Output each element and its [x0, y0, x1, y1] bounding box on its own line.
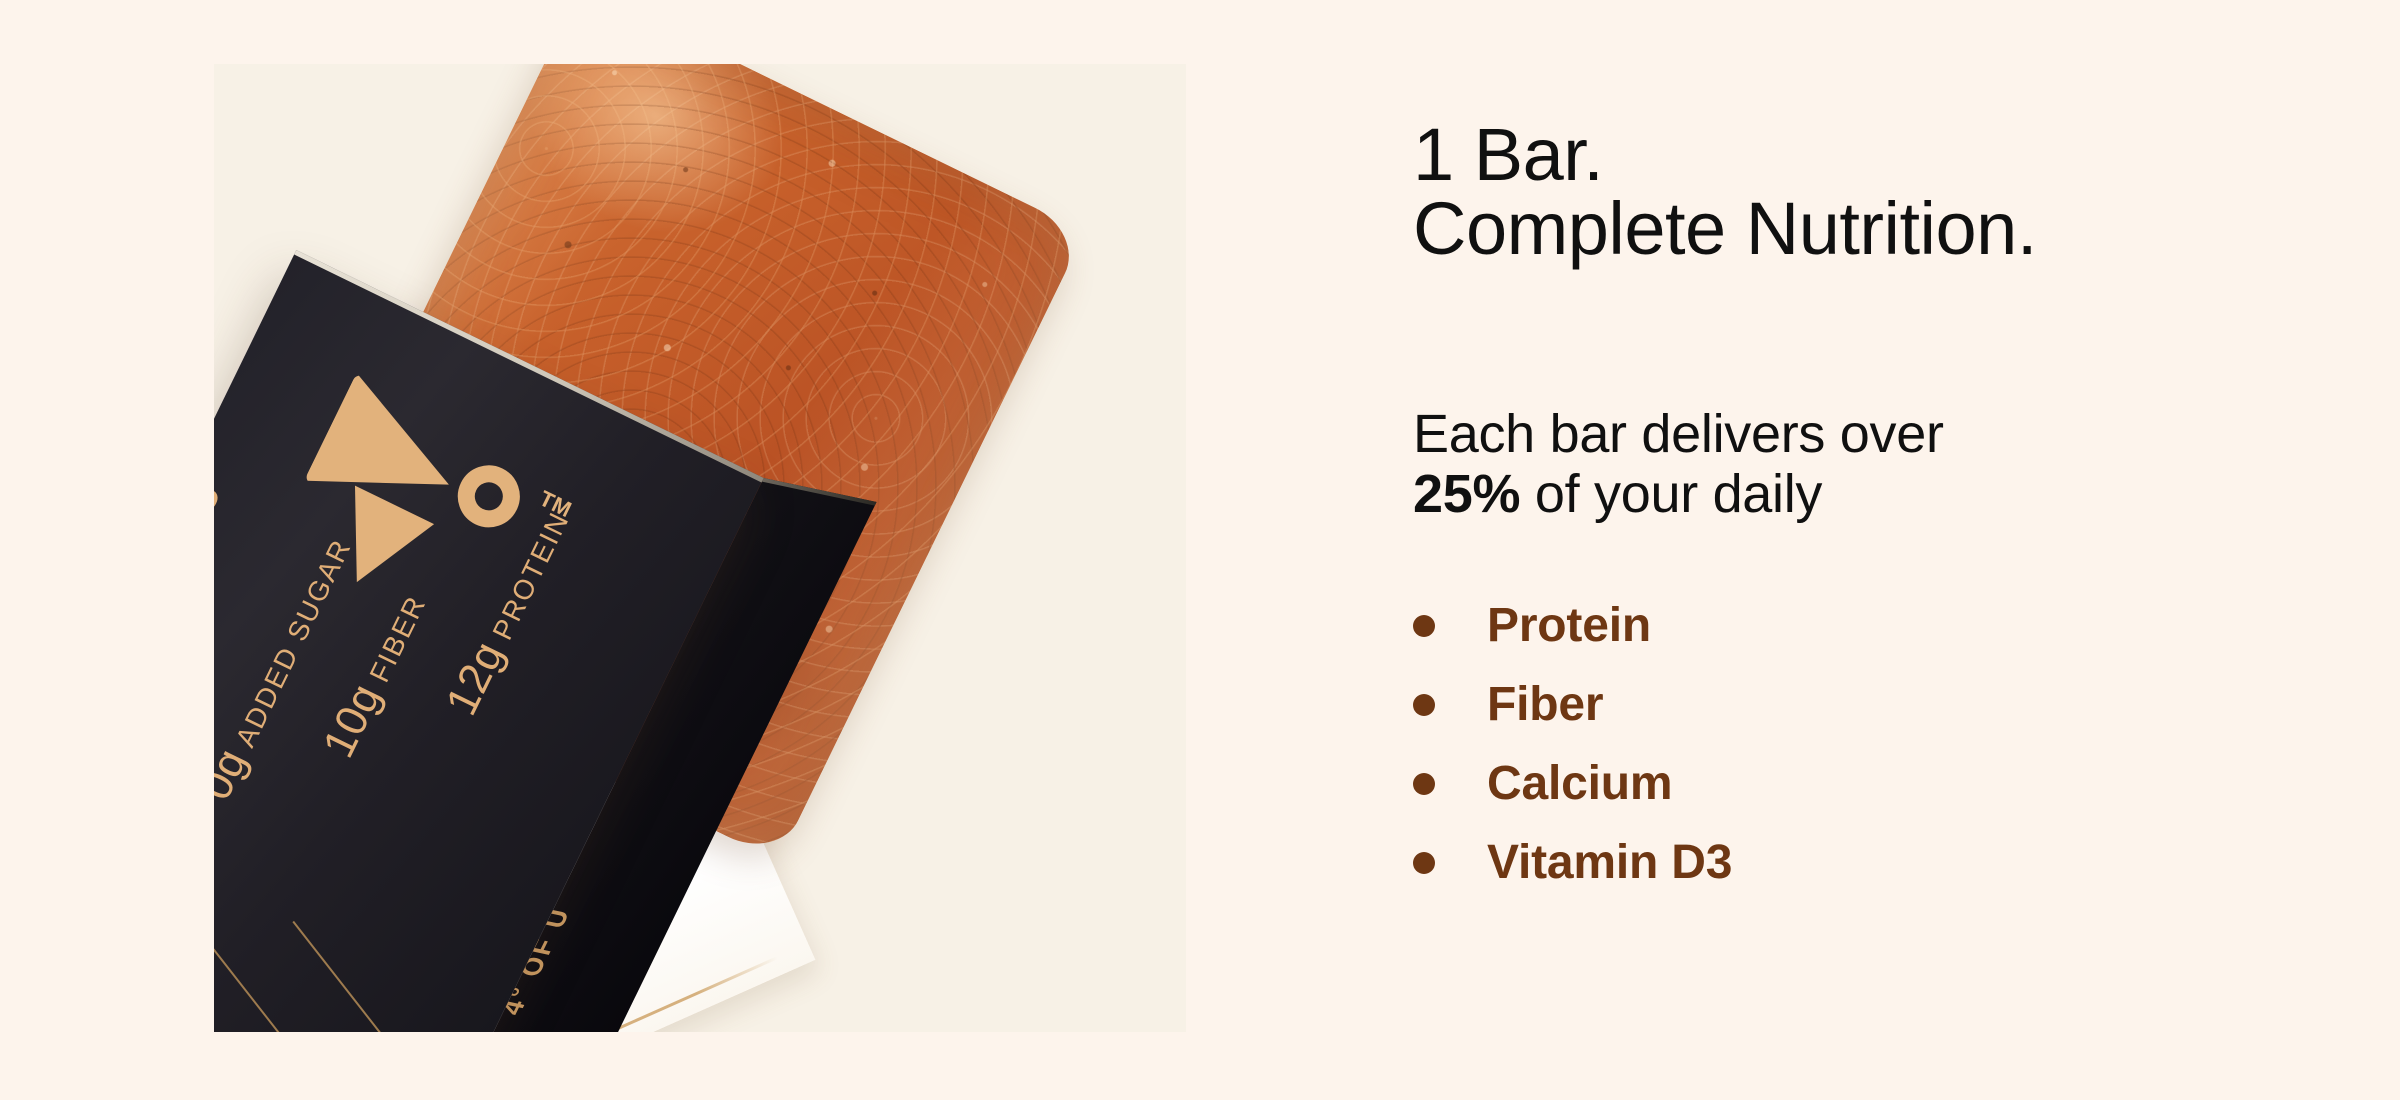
headline-line-1: 1 Bar.: [1413, 118, 2037, 192]
lede-line-2-rest: of your daily: [1520, 464, 1822, 524]
list-item: Calcium: [1413, 756, 1732, 812]
list-item: Vitamin D3: [1413, 835, 1732, 891]
headline-line-2: Complete Nutrition.: [1413, 192, 2037, 266]
lede-line-2: 25% of your daily: [1413, 464, 1944, 524]
carton-front-brand-text: 4° OF U: [214, 476, 231, 623]
page-title: 1 Bar. Complete Nutrition.: [1413, 118, 2037, 266]
bullet-icon: [1413, 615, 1435, 637]
product-photo-panel: 4° OF U TM 4° OF U COCONUT®: [214, 64, 1186, 1032]
nutrition-divider: [292, 921, 515, 1032]
benefit-label: Calcium: [1487, 760, 1672, 808]
promo-banner: 4° OF U TM 4° OF U COCONUT®: [0, 0, 2400, 1100]
benefits-list: Protein Fiber Calcium Vitamin D3: [1413, 598, 1732, 914]
lede-paragraph: Each bar delivers over 25% of your daily: [1413, 404, 1944, 525]
product-photo-stage: 4° OF U TM 4° OF U COCONUT®: [214, 64, 1186, 1032]
nutrition-amount: 0g: [214, 741, 257, 807]
bullet-icon: [1413, 694, 1435, 716]
benefit-label: Protein: [1487, 602, 1651, 650]
lede-line-1: Each bar delivers over: [1413, 404, 1944, 464]
benefit-label: Fiber: [1487, 681, 1603, 729]
bullet-icon: [1413, 852, 1435, 874]
bullet-icon: [1413, 773, 1435, 795]
list-item: Protein: [1413, 598, 1732, 654]
lede-highlight-percent: 25%: [1413, 464, 1520, 524]
benefit-label: Vitamin D3: [1487, 839, 1732, 887]
nutrition-divider: [214, 920, 414, 1032]
list-item: Fiber: [1413, 677, 1732, 733]
copy-column: 1 Bar. Complete Nutrition. Each bar deli…: [1413, 0, 2313, 1100]
